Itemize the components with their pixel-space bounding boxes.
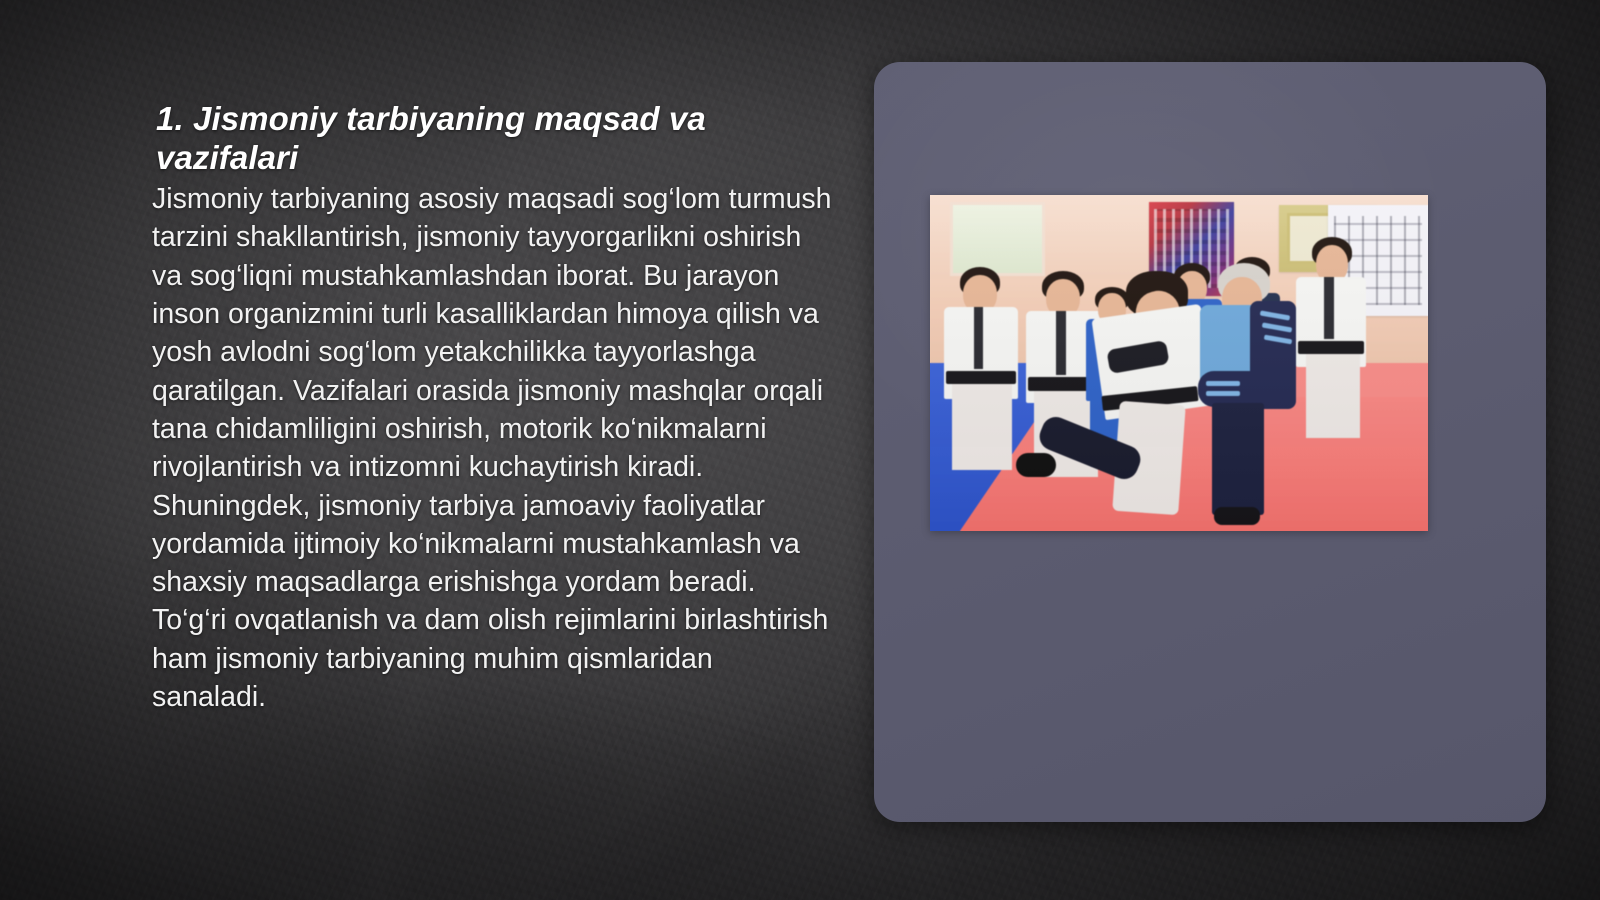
gym-window — [950, 202, 1045, 276]
slide-title: 1. Jismoniy tarbiyaning maqsad va vazifa… — [156, 100, 832, 178]
slide-body-text: Jismoniy tarbiyaning asosiy maqsadi sog‘… — [152, 180, 832, 717]
text-column: 1. Jismoniy tarbiyaning maqsad va vazifa… — [152, 100, 832, 716]
presentation-slide: 1. Jismoniy tarbiyaning maqsad va vazifa… — [0, 0, 1600, 900]
judo-demonstration-photo — [930, 195, 1428, 531]
image-card-panel — [874, 62, 1546, 822]
